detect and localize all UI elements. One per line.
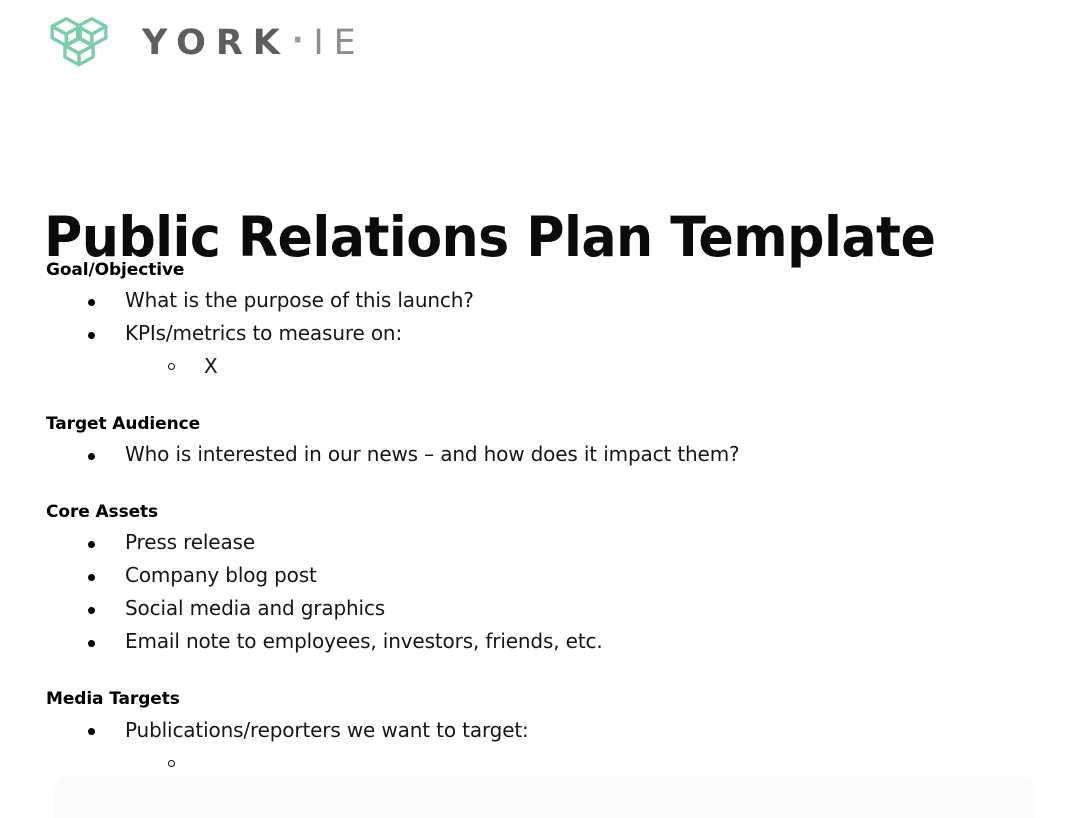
list-item: Email note to employees, investors, frie… xyxy=(46,625,1046,658)
section-heading: Target Audience xyxy=(46,412,1046,436)
sub-list-item xyxy=(125,747,1046,780)
bullet-disc-icon xyxy=(88,332,95,339)
section-heading: Media Targets xyxy=(46,687,1046,711)
list-item: Publications/reporters we want to target… xyxy=(46,714,1046,747)
brand-word-separator: · xyxy=(292,26,303,56)
section-goal-objective: Goal/Objective What is the purpose of th… xyxy=(46,258,1046,383)
list-item-text: Who is interested in our news – and how … xyxy=(125,442,740,466)
list-item: What is the purpose of this launch? xyxy=(46,284,1046,317)
bullet-disc-icon xyxy=(88,640,95,647)
bullet-disc-icon xyxy=(88,299,95,306)
brand-wordmark: YORK · IE xyxy=(142,26,366,61)
list-item-text: Publications/reporters we want to target… xyxy=(125,718,529,742)
section-heading: Core Assets xyxy=(46,500,1046,524)
document-body: Goal/Objective What is the purpose of th… xyxy=(46,258,1046,780)
brand-word-york: YORK xyxy=(142,26,290,61)
bullet-disc-icon xyxy=(88,541,95,548)
bullet-list: Publications/reporters we want to target… xyxy=(46,714,1046,747)
page-bottom-edge xyxy=(55,778,1035,818)
list-item-text: Press release xyxy=(125,530,255,554)
list-item: Company blog post xyxy=(46,559,1046,592)
section-heading: Goal/Objective xyxy=(46,258,1046,282)
list-item-text: KPIs/metrics to measure on: xyxy=(125,321,402,345)
bullet-circle-icon xyxy=(168,363,175,370)
yorkie-logo-icon xyxy=(46,11,112,75)
sub-bullet-list xyxy=(46,747,1046,780)
bullet-list: Who is interested in our news – and how … xyxy=(46,438,1046,471)
bullet-list: What is the purpose of this launch? KPIs… xyxy=(46,284,1046,350)
sub-bullet-list: X xyxy=(46,350,1046,383)
bullet-disc-icon xyxy=(88,574,95,581)
brand-header: YORK · IE xyxy=(46,11,366,75)
bullet-disc-icon xyxy=(88,728,95,735)
list-item: KPIs/metrics to measure on: xyxy=(46,317,1046,350)
list-item-text: Email note to employees, investors, frie… xyxy=(125,629,603,653)
brand-word-ie: IE xyxy=(313,26,365,61)
sub-list-item: X xyxy=(125,350,1046,383)
section-core-assets: Core Assets Press release Company blog p… xyxy=(46,500,1046,658)
list-item: Press release xyxy=(46,526,1046,559)
list-item: Social media and graphics xyxy=(46,592,1046,625)
bullet-list: Press release Company blog post Social m… xyxy=(46,526,1046,658)
list-item: Who is interested in our news – and how … xyxy=(46,438,1046,471)
section-target-audience: Target Audience Who is interested in our… xyxy=(46,412,1046,471)
list-item-text: What is the purpose of this launch? xyxy=(125,288,474,312)
bullet-disc-icon xyxy=(88,453,95,460)
list-item-text: Company blog post xyxy=(125,563,317,587)
sub-list-item-text: X xyxy=(204,354,218,378)
bullet-disc-icon xyxy=(88,607,95,614)
bullet-circle-icon xyxy=(168,760,175,767)
list-item-text: Social media and graphics xyxy=(125,596,385,620)
section-media-targets: Media Targets Publications/reporters we … xyxy=(46,687,1046,779)
